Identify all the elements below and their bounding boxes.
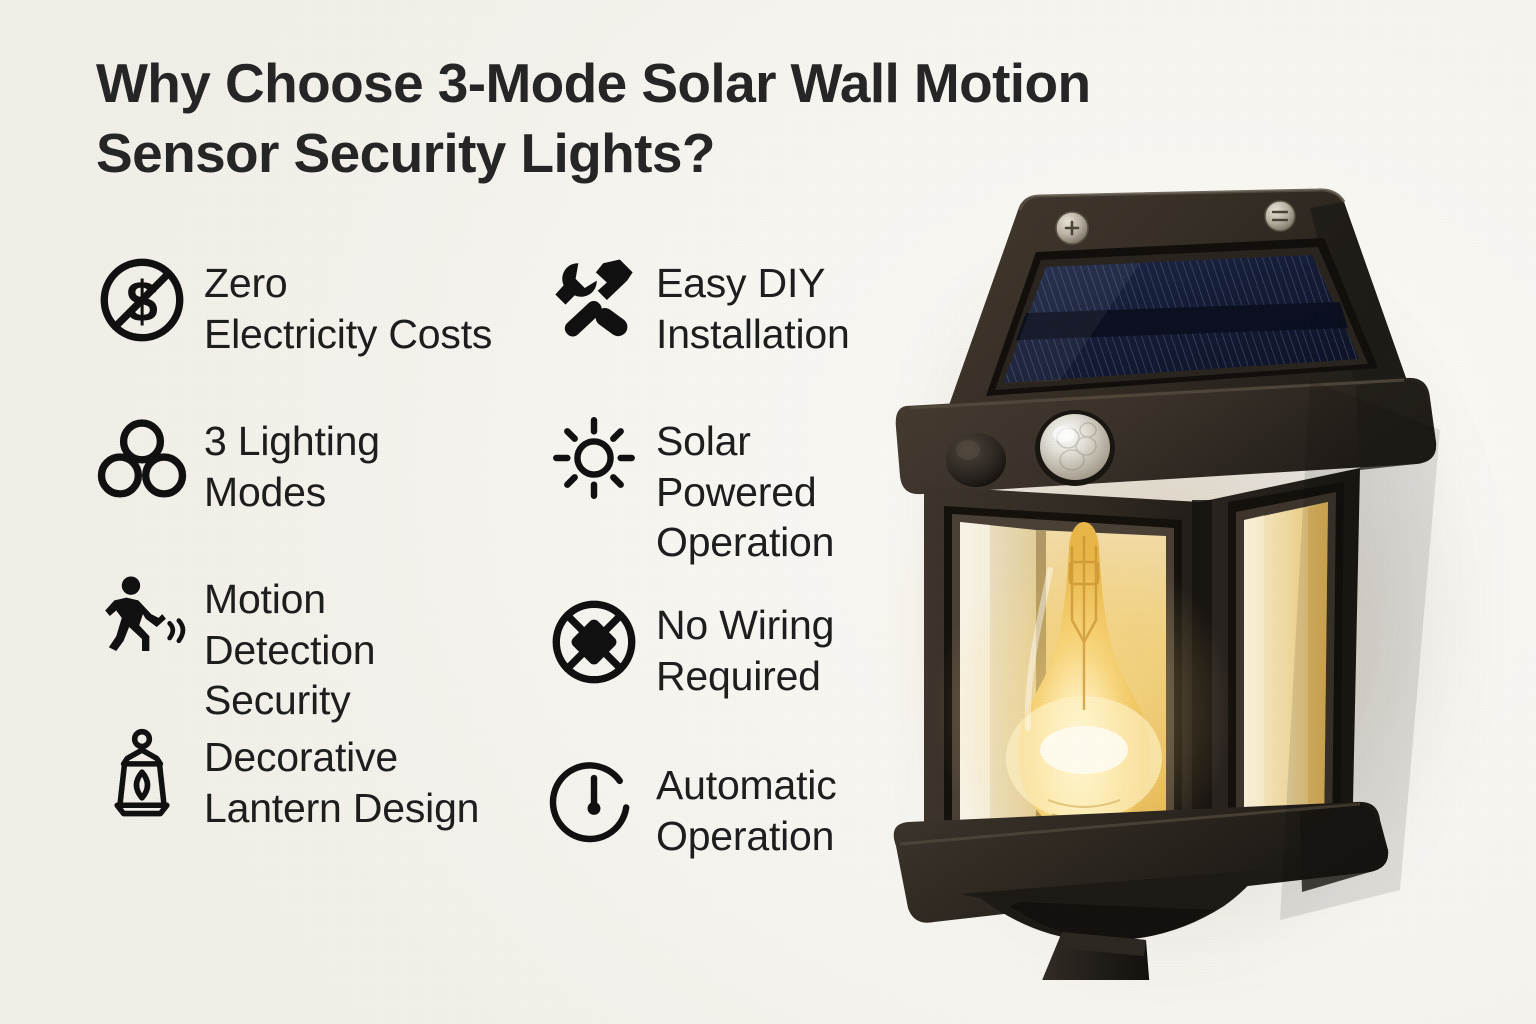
feature-automatic-operation: Automatic Operation (548, 754, 837, 861)
feature-label: Motion Detection Security (204, 568, 375, 726)
feature-easy-diy-installation: Easy DIY Installation (548, 252, 850, 359)
feature-label: 3 Lighting Modes (204, 410, 380, 517)
sun-icon (548, 412, 640, 504)
feature-motion-detection-security: Motion Detection Security (96, 568, 375, 726)
feature-label: Easy DIY Installation (656, 252, 850, 359)
clock-timer-icon (548, 756, 640, 848)
solar-wall-lantern-photo (840, 150, 1500, 980)
hammer-wrench-icon (548, 254, 640, 346)
feature-label: No Wiring Required (656, 594, 834, 701)
screw-right (1265, 201, 1295, 231)
feature-label: Solar Powered Operation (656, 410, 834, 568)
mode-button (946, 433, 1006, 487)
lantern-icon (96, 728, 188, 820)
title-line-1: Why Choose 3-Mode Solar Wall Motion (96, 48, 1376, 118)
screw-left (1056, 212, 1088, 244)
no-plug-icon (548, 596, 640, 688)
feature-label: Decorative Lantern Design (204, 726, 479, 833)
feature-label: Automatic Operation (656, 754, 837, 861)
walking-person-motion-icon (96, 570, 188, 662)
infographic-canvas: Why Choose 3-Mode Solar Wall Motion Sens… (0, 0, 1536, 1024)
svg-text:$: $ (126, 270, 158, 334)
feature-decorative-lantern-design: Decorative Lantern Design (96, 726, 479, 833)
feature-zero-electricity-costs: $ Zero Electricity Costs (96, 252, 492, 359)
three-circles-icon (96, 412, 188, 504)
feature-solar-powered-operation: Solar Powered Operation (548, 410, 834, 568)
no-dollar-icon: $ (96, 254, 188, 346)
feature-label: Zero Electricity Costs (204, 252, 492, 359)
feature-no-wiring-required: No Wiring Required (548, 594, 834, 701)
feature-list: $ Zero Electricity Costs 3 Lighting Mode… (96, 246, 906, 876)
product-illustration (840, 150, 1500, 980)
feature-3-lighting-modes: 3 Lighting Modes (96, 410, 380, 517)
